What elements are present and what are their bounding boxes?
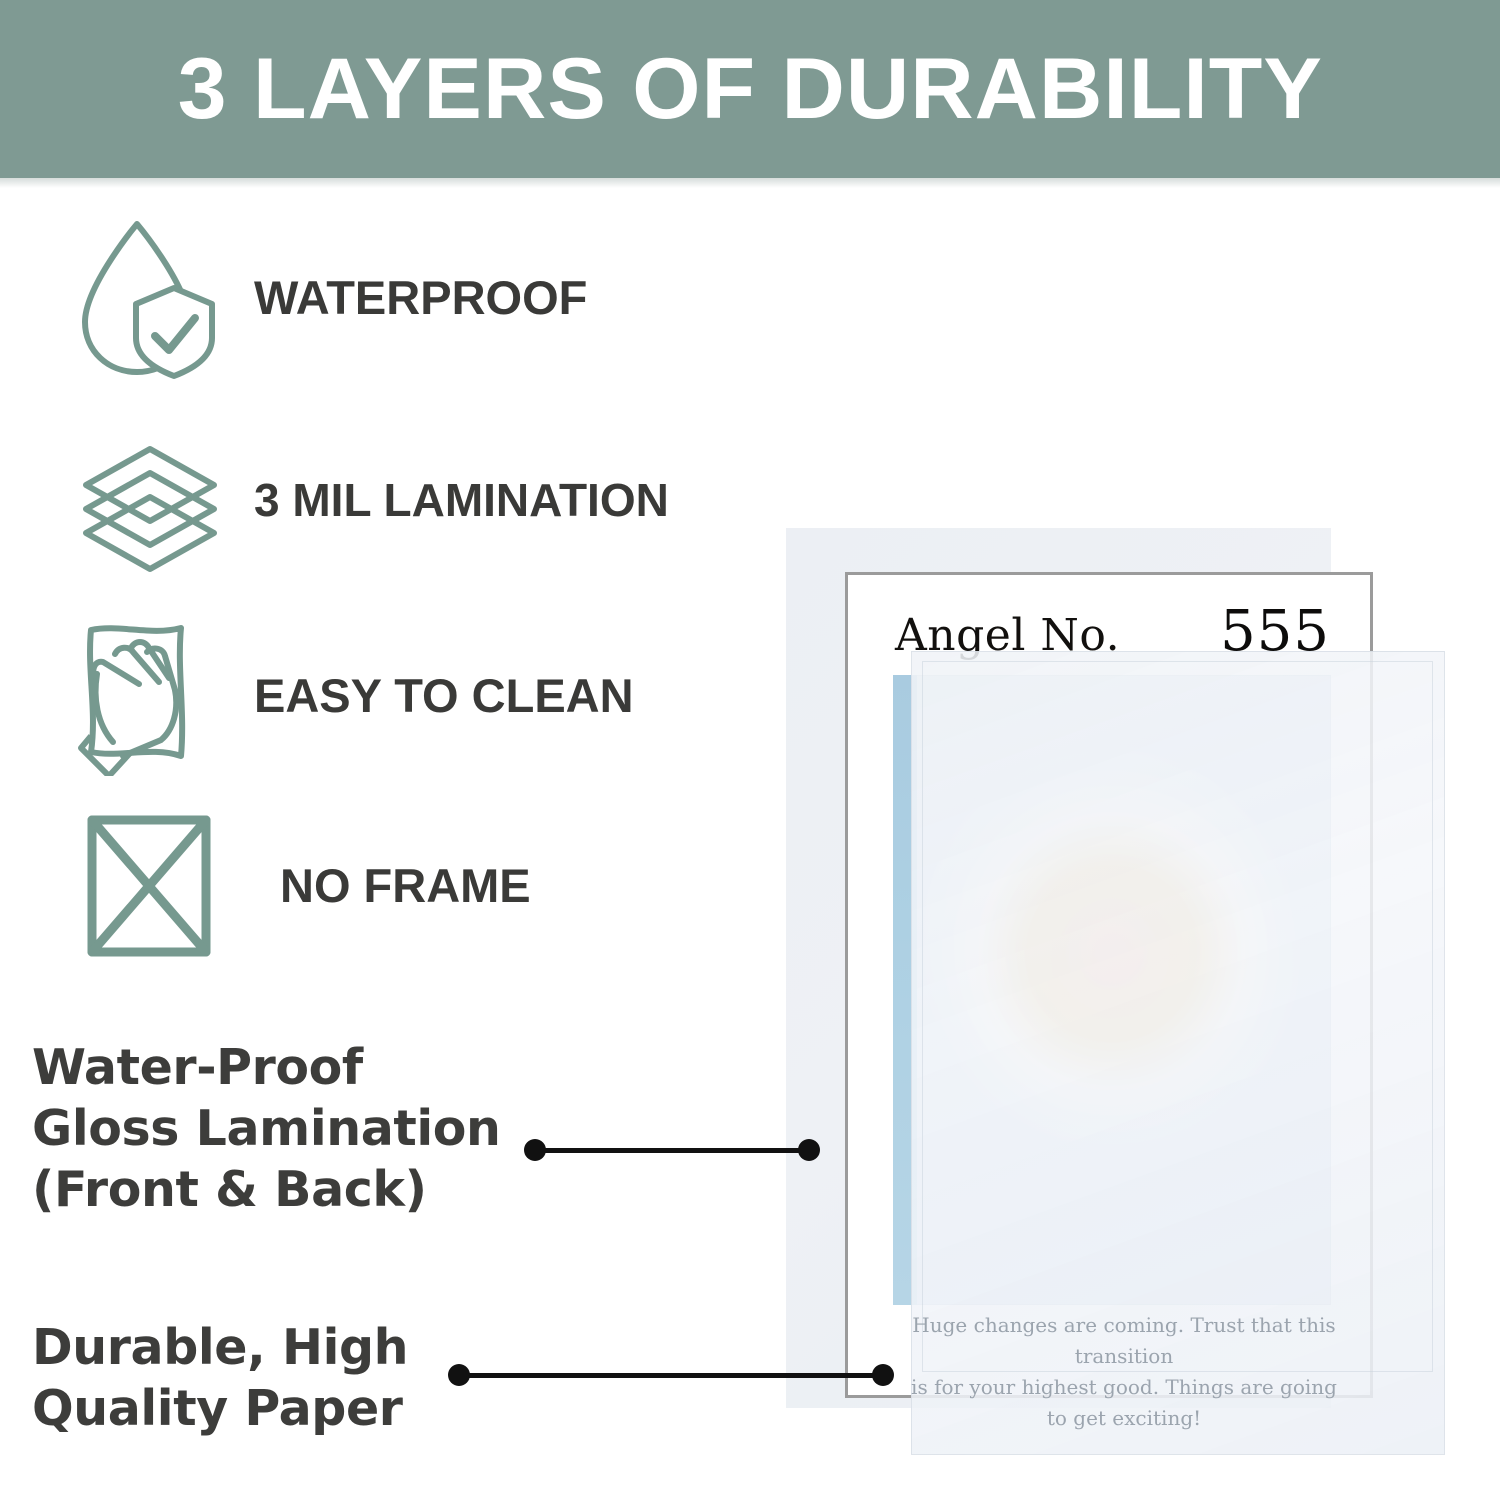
feature-label: EASY TO CLEAN <box>254 668 634 723</box>
leader-dot-end <box>798 1139 820 1161</box>
feature-item-no-frame: NO FRAME <box>70 798 531 973</box>
callout-text: Durable, High Quality Paper <box>32 1318 502 1440</box>
poster-caption-line-1: Huge changes are coming. Trust that this… <box>909 1310 1339 1372</box>
callout-paper: Durable, High Quality Paper <box>32 1318 502 1440</box>
feature-label: NO FRAME <box>280 858 531 913</box>
callout-line: Durable, High <box>32 1318 502 1379</box>
callout-line: Quality Paper <box>32 1379 502 1440</box>
callout-lamination: Water-Proof Gloss Lamination (Front & Ba… <box>32 1038 552 1220</box>
feature-item-easy-to-clean: EASY TO CLEAN <box>70 608 634 783</box>
feature-item-lamination: 3 MIL LAMINATION <box>70 412 669 587</box>
crossed-out-frame-icon <box>70 798 230 973</box>
leader-bar <box>533 1148 811 1153</box>
feature-item-waterproof: WATERPROOF <box>70 210 587 385</box>
callout-text: Water-Proof Gloss Lamination (Front & Ba… <box>32 1038 552 1220</box>
poster-caption-line-2: is for your highest good. Things are goi… <box>909 1372 1339 1434</box>
infographic-canvas: 3 LAYERS OF DURABILITY Angel No. 555 Hug… <box>0 0 1500 1500</box>
stacked-layers-icon <box>70 412 230 587</box>
poster-caption: Huge changes are coming. Trust that this… <box>909 1310 1339 1434</box>
leader-line-lamination <box>524 1139 820 1161</box>
feature-label: 3 MIL LAMINATION <box>254 473 669 527</box>
front-sheet-inner-edge <box>922 661 1433 1372</box>
hand-wiping-cloth-icon <box>70 608 230 783</box>
water-drop-shield-check-icon <box>70 210 230 385</box>
callout-line: Water-Proof <box>32 1038 552 1099</box>
leader-bar <box>457 1373 885 1378</box>
callout-line: Gloss Lamination <box>32 1099 552 1160</box>
leader-dot-end <box>872 1364 894 1386</box>
callout-line: (Front & Back) <box>32 1160 552 1221</box>
leader-line-paper <box>448 1364 894 1386</box>
feature-label: WATERPROOF <box>254 270 587 325</box>
